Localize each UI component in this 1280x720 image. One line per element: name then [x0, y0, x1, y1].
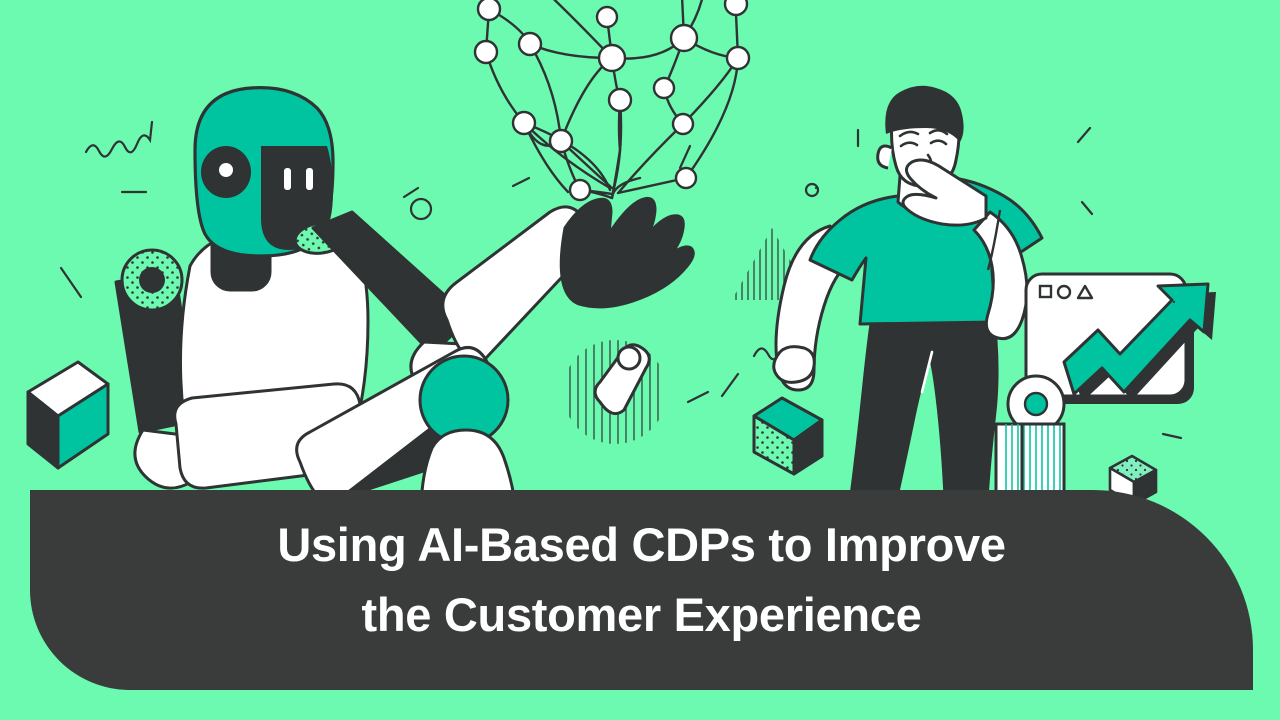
robot-pupil [219, 163, 233, 177]
graph-node [671, 25, 697, 51]
title-banner [30, 490, 1253, 690]
graph-node [570, 180, 590, 200]
graph-node [550, 130, 572, 152]
graph-node [475, 41, 497, 63]
robot-visor-bar [306, 168, 313, 190]
robot-shoulder-hub [139, 267, 165, 293]
graph-node [599, 45, 625, 71]
robot-visor-bar [284, 168, 291, 190]
graph-node [727, 47, 749, 69]
graph-node [609, 89, 631, 111]
graph-node [676, 168, 696, 188]
graph-node [673, 114, 693, 134]
man-left-hand [774, 347, 815, 383]
graph-node [725, 0, 747, 15]
graph-node [478, 0, 500, 20]
graph-node [519, 33, 541, 55]
graph-node [597, 7, 617, 27]
graph-node [654, 78, 674, 98]
poster-canvas: Using AI-Based CDPs to Improve the Custo… [0, 0, 1280, 720]
graph-node [513, 112, 535, 134]
